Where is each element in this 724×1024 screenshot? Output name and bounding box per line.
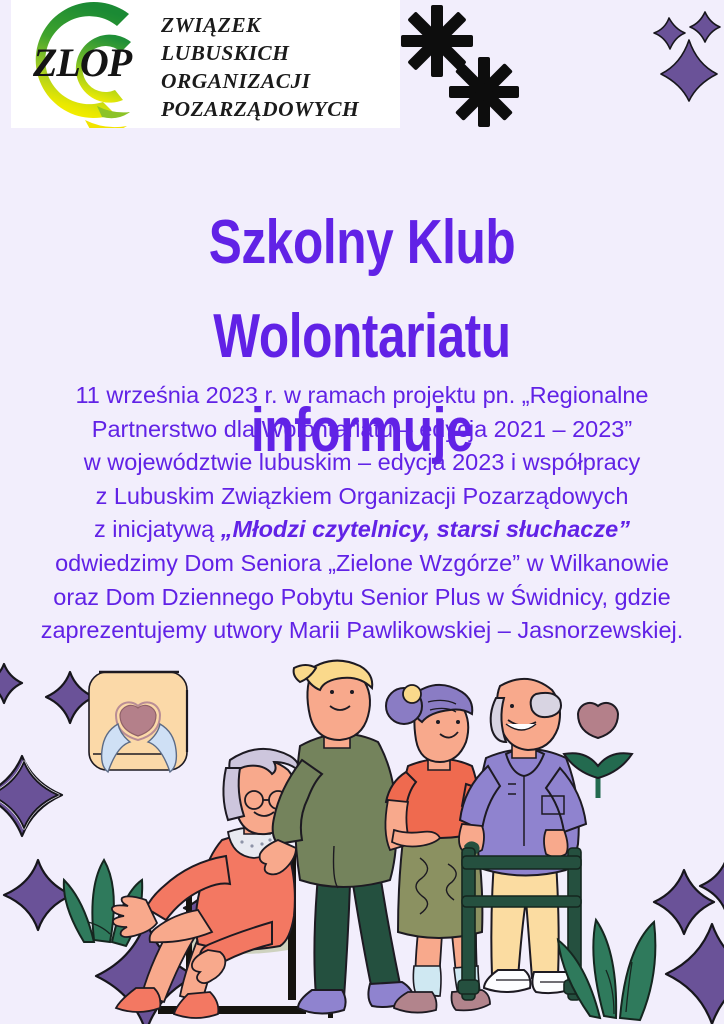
announcement-line-1: 11 września 2023 r. w ramach projektu pn… — [18, 379, 706, 413]
announcement-line-6: odwiedzimy Dom Seniora „Zielone Wzgórze”… — [18, 547, 706, 581]
zlop-full-name: ZWIĄZEK LUBUSKICH ORGANIZACJI POZARZĄDOW… — [161, 11, 399, 123]
zlop-name-line-2: LUBUSKICH — [161, 39, 400, 67]
zlop-logo-plate: ZLOP ZWIĄZEK LUBUSKICH ORGANIZACJI POZAR… — [11, 0, 400, 128]
initiative-title: „Młodzi czytelnicy, starsi słuchacze” — [221, 516, 630, 542]
asterisk-large-icon — [398, 2, 476, 80]
sparkle-cluster-top-right-icon — [645, 2, 724, 102]
asterisk-small-icon — [446, 54, 522, 130]
zlop-wordmark: ZLOP — [33, 38, 163, 88]
announcement-line-4: z Lubuskim Związkiem Organizacji Pozarzą… — [18, 480, 706, 514]
announcement-line-7: oraz Dom Dziennego Pobytu Senior Plus w … — [18, 581, 706, 615]
announcement-text: 11 września 2023 r. w ramach projektu pn… — [18, 379, 706, 648]
announcement-line-3: w województwie lubuskim – edycja 2023 i … — [18, 446, 706, 480]
zlop-name-line-3: ORGANIZACJI — [161, 67, 400, 95]
zlop-name-line-4: POZARZĄDOWYCH — [161, 95, 400, 123]
initiative-prefix: z inicjatywą — [94, 516, 221, 542]
zlop-name-line-1: ZWIĄZEK — [161, 11, 400, 39]
illustration-volunteers-and-seniors — [0, 650, 724, 1024]
announcement-line-2: Partnerstwo dla Wolontariatu – edycja 20… — [18, 413, 706, 447]
framed-heart-in-hands-picture — [89, 672, 187, 772]
announcement-line-8: zaprezentujemy utwory Marii Pawlikowskie… — [18, 614, 706, 648]
announcement-initiative-line: z inicjatywą „Młodzi czytelnicy, starsi … — [18, 513, 706, 547]
poster-canvas: ZLOP ZWIĄZEK LUBUSKICH ORGANIZACJI POZAR… — [0, 0, 724, 1024]
page-title-line-1: Szkolny Klub Wolontariatu — [209, 208, 516, 371]
sparkle-cluster-bottom-right-icon — [654, 860, 724, 1024]
